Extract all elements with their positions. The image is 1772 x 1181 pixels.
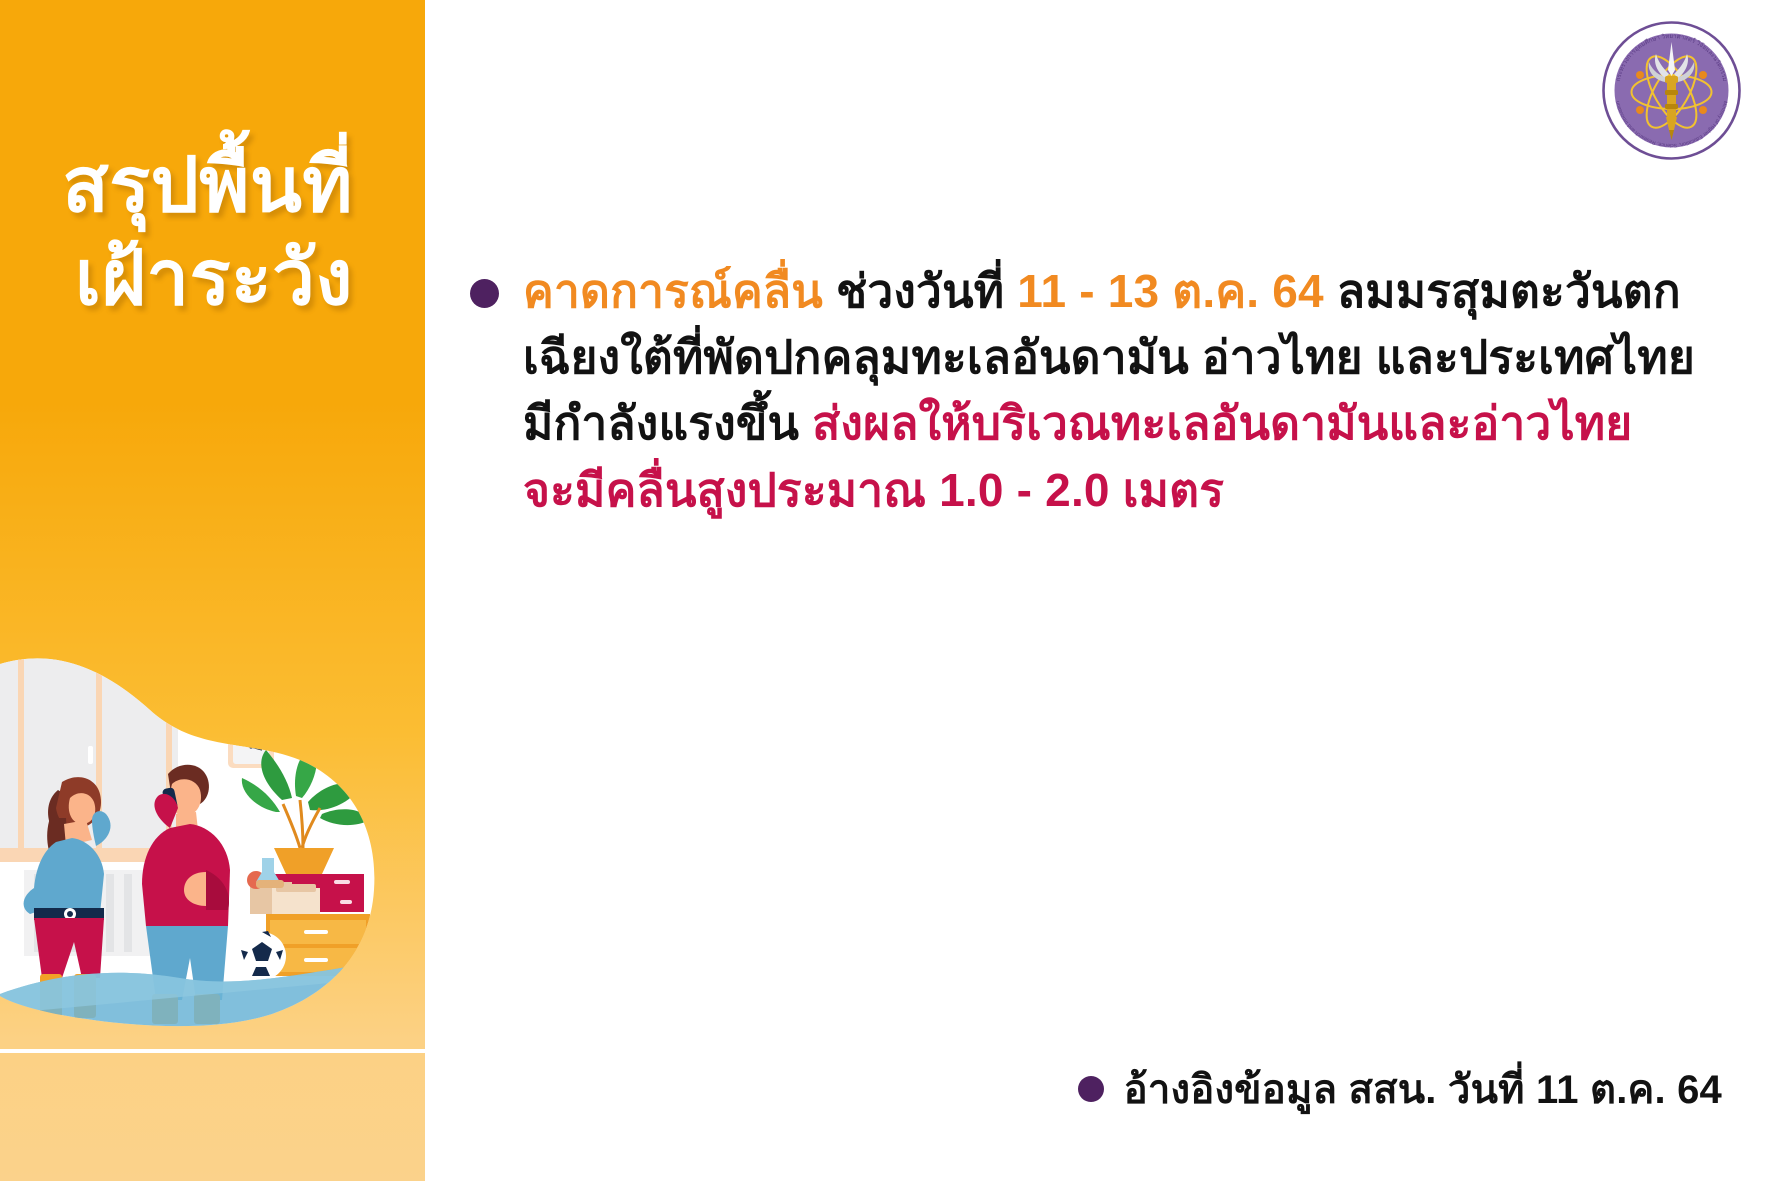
source-reference-text: อ้างอิงข้อมูล สสน. วันที่ 11 ต.ค. 64 <box>1124 1057 1722 1121</box>
forecast-line-4: จะมีคลื่นสูงประมาณ 1.0 - 2.0 เมตร <box>523 457 1695 523</box>
forecast-run-3-2: ส่งผลให้บริเวณทะเลอันดามันและอ่าวไทย <box>812 397 1632 449</box>
illustration-divider <box>0 1049 425 1053</box>
footer-bullet-dot-icon <box>1078 1076 1104 1102</box>
forecast-line-1: คาดการณ์คลื่น ช่วงวันที่ 11 - 13 ต.ค. 64… <box>523 258 1695 324</box>
source-footer: อ้างอิงข้อมูล สสน. วันที่ 11 ต.ค. 64 <box>1078 1057 1722 1121</box>
forecast-run-1-1: คาดการณ์คลื่น <box>523 265 836 317</box>
forecast-run-3-1: มีกำลังแรงขึ้น <box>523 397 812 449</box>
ministry-logo: กระทรวงการอุดมศึกษา วิทยาศาสตร์ วิจัยและ… <box>1599 18 1744 163</box>
page-title: สรุปพื้นที่ เฝ้าระวัง <box>0 140 425 325</box>
main-bullet-row: คาดการณ์คลื่น ช่วงวันที่ 11 - 13 ต.ค. 64… <box>470 258 1700 523</box>
forecast-run-2-1: เฉียงใต้ที่พัดปกคลุมทะเลอันดามัน อ่าวไทย… <box>523 331 1695 383</box>
forecast-run-1-2: ช่วงวันที่ <box>836 265 1017 317</box>
forecast-line-2: เฉียงใต้ที่พัดปกคลุมทะเลอันดามัน อ่าวไทย… <box>523 324 1695 390</box>
flooded-room-illustration <box>0 622 425 1052</box>
infographic-slide: สรุปพื้นที่ เฝ้าระวัง <box>0 0 1772 1181</box>
forecast-line-3: มีกำลังแรงขึ้น ส่งผลให้บริเวณทะเลอันดามั… <box>523 390 1695 456</box>
sidebar-panel: สรุปพื้นที่ เฝ้าระวัง <box>0 0 425 1181</box>
forecast-paragraph: คาดการณ์คลื่น ช่วงวันที่ 11 - 13 ต.ค. 64… <box>523 258 1695 523</box>
forecast-run-1-3: 11 - 13 ต.ค. 64 <box>1017 265 1337 317</box>
forecast-run-4-1: จะมีคลื่นสูงประมาณ 1.0 - 2.0 เมตร <box>523 464 1224 516</box>
bullet-dot-icon <box>470 279 499 308</box>
main-content: คาดการณ์คลื่น ช่วงวันที่ 11 - 13 ต.ค. 64… <box>470 258 1700 523</box>
forecast-run-1-4: ลมมรสุมตะวันตก <box>1337 265 1681 317</box>
